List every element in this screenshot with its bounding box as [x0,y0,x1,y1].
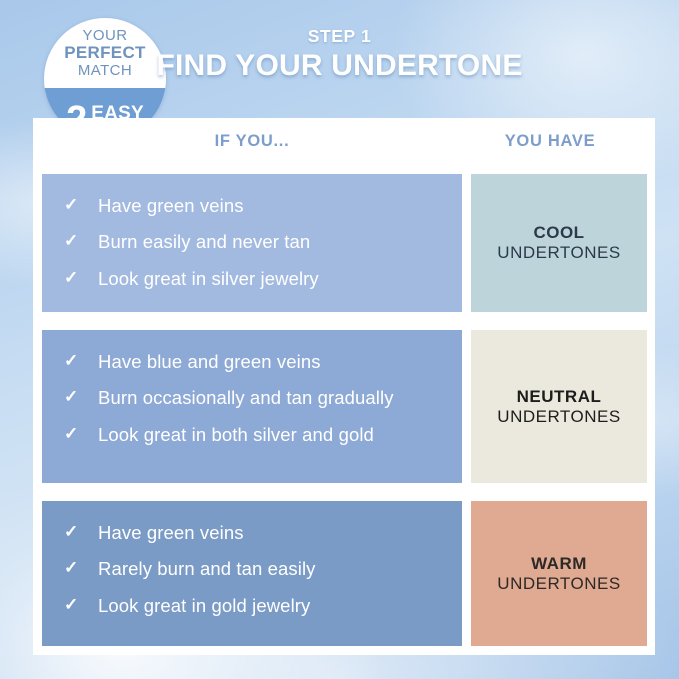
trait-text: Have green veins [98,521,244,544]
check-icon: ✓ [64,230,98,251]
trait-text: Look great in silver jewelry [98,267,319,290]
list-item: ✓ Look great in gold jewelry [64,594,444,617]
undertone-table-card: IF YOU... YOU HAVE ✓ Have green veins ✓ … [33,118,655,655]
undertone-swatch-warm: WARM UNDERTONES [471,501,647,646]
check-icon: ✓ [64,386,98,407]
list-item: ✓ Rarely burn and tan easily [64,557,444,580]
list-item: ✓ Have green veins [64,521,444,544]
undertone-suffix: UNDERTONES [497,407,620,427]
check-icon: ✓ [64,194,98,215]
page-header: STEP 1 FIND YOUR UNDERTONE [0,26,679,83]
undertone-swatch-cool: COOL UNDERTONES [471,174,647,312]
undertone-suffix: UNDERTONES [497,574,620,594]
trait-text: Rarely burn and tan easily [98,557,316,580]
trait-list-cool: ✓ Have green veins ✓ Burn easily and nev… [42,174,462,312]
check-icon: ✓ [64,267,98,288]
check-icon: ✓ [64,423,98,444]
trait-text: Burn easily and never tan [98,230,310,253]
trait-list-warm: ✓ Have green veins ✓ Rarely burn and tan… [42,501,462,646]
trait-text: Burn occasionally and tan gradually [98,386,394,409]
trait-text: Have blue and green veins [98,350,321,373]
list-item: ✓ Have green veins [64,194,444,217]
list-item: ✓ Burn occasionally and tan gradually [64,386,444,409]
undertone-suffix: UNDERTONES [497,243,620,263]
list-item: ✓ Have blue and green veins [64,350,444,373]
check-icon: ✓ [64,521,98,542]
table-row: ✓ Have blue and green veins ✓ Burn occas… [42,330,638,483]
undertone-swatch-neutral: NEUTRAL UNDERTONES [471,330,647,483]
check-icon: ✓ [64,350,98,371]
page-title: FIND YOUR UNDERTONE [0,49,679,83]
column-header-if-you: IF YOU... [42,132,462,151]
step-label: STEP 1 [0,26,679,47]
table-row: ✓ Have green veins ✓ Rarely burn and tan… [42,501,638,646]
column-headers: IF YOU... YOU HAVE [33,132,655,160]
list-item: ✓ Burn easily and never tan [64,230,444,253]
trait-list-neutral: ✓ Have blue and green veins ✓ Burn occas… [42,330,462,483]
undertone-name: COOL [533,223,584,243]
column-header-you-have: YOU HAVE [462,132,638,151]
trait-text: Look great in both silver and gold [98,423,374,446]
undertone-name: NEUTRAL [517,387,602,407]
check-icon: ✓ [64,594,98,615]
table-row: ✓ Have green veins ✓ Burn easily and nev… [42,174,638,312]
list-item: ✓ Look great in both silver and gold [64,423,444,446]
list-item: ✓ Look great in silver jewelry [64,267,444,290]
trait-text: Have green veins [98,194,244,217]
undertone-name: WARM [531,554,587,574]
check-icon: ✓ [64,557,98,578]
trait-text: Look great in gold jewelry [98,594,310,617]
